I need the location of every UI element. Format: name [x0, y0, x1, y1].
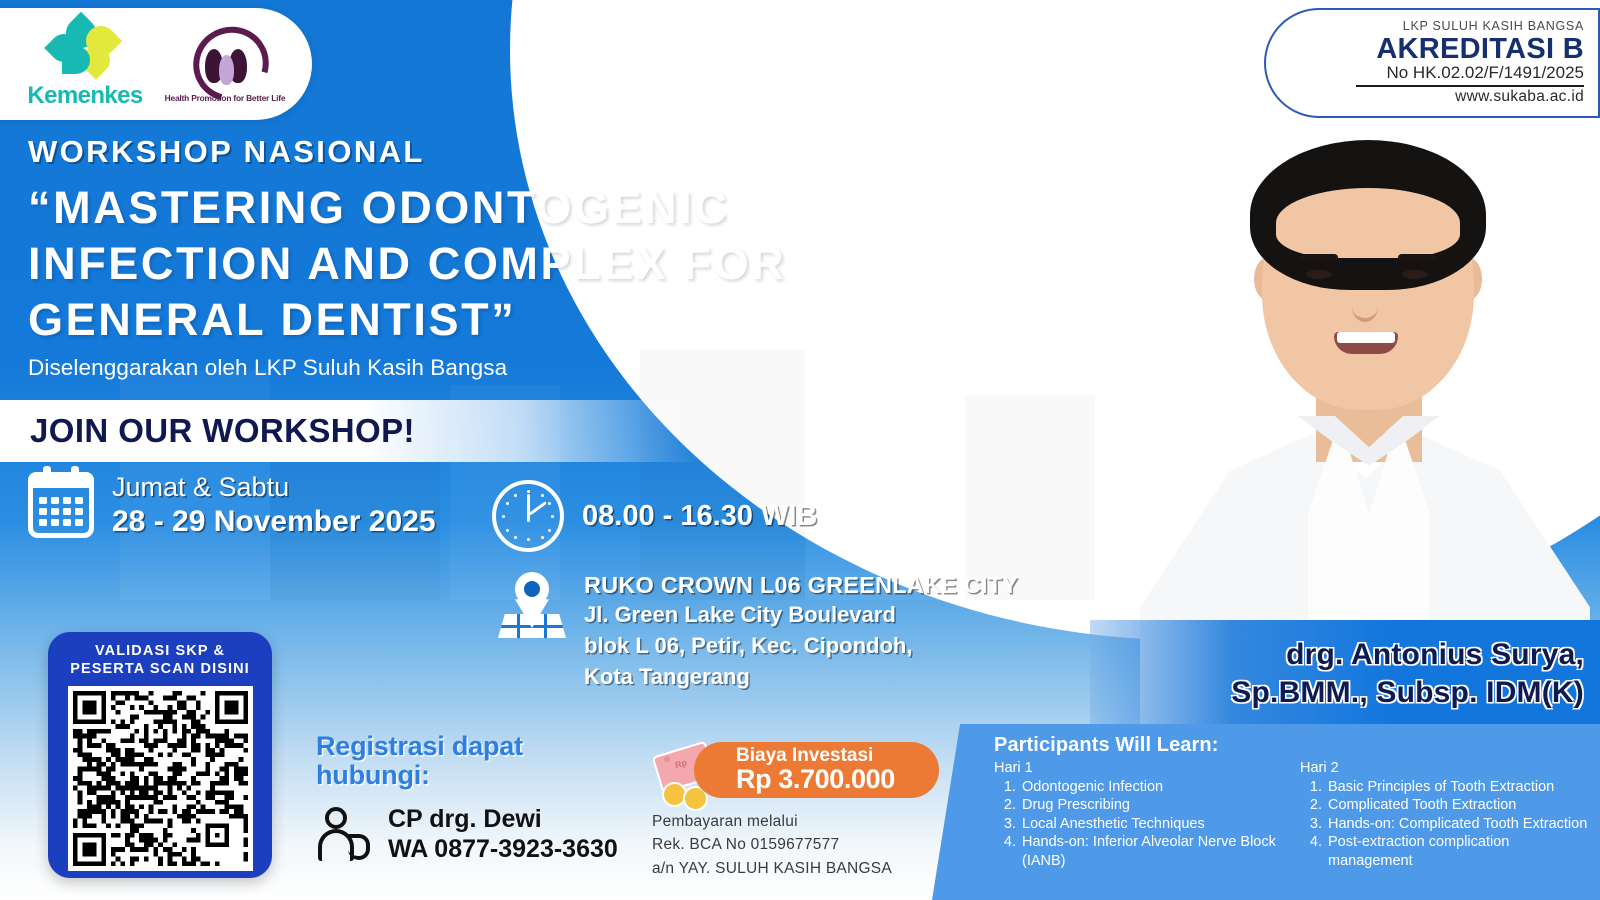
curriculum-day-2-list: Basic Principles of Tooth Extraction Com… [1300, 778, 1596, 871]
kemenkes-logo: Kemenkes [26, 18, 144, 110]
curriculum-columns: Hari 1 Odontogenic Infection Drug Prescr… [994, 759, 1600, 871]
list-item: Basic Principles of Tooth Extraction [1326, 778, 1596, 797]
registration-heading-line-1: Registrasi dapat [316, 732, 646, 761]
sukaba-logo: Health Promotion for Better Life [160, 25, 290, 103]
list-item: Drug Prescribing [1020, 796, 1290, 815]
event-title-line-3: GENERAL DENTIST” [28, 292, 928, 348]
price-amount: Rp 3.700.000 [736, 765, 939, 794]
headline-block: WORKSHOP NASIONAL “MASTERING ODONTOGENIC… [28, 134, 928, 381]
list-item: Hands-on: Complicated Tooth Extraction [1326, 815, 1596, 834]
accreditation-number: No HK.02.02/F/1491/2025 [1386, 64, 1584, 83]
accreditation-website: www.sukaba.ac.id [1455, 88, 1584, 106]
accreditation-divider [1356, 85, 1584, 87]
accreditation-badge: LKP SULUH KASIH BANGSA AKREDITASI B No H… [1264, 8, 1600, 118]
qr-caption-line-2: PESERTA SCAN DISINI [70, 660, 250, 678]
event-date-block: Jumat & Sabtu 28 - 29 November 2025 [28, 472, 436, 539]
list-item: Hands-on: Inferior Alveolar Nerve Block … [1020, 833, 1290, 870]
price-pill: Biaya Investasi Rp 3.700.000 [694, 742, 939, 798]
map-pin-icon [498, 572, 566, 638]
event-subtitle: Diselenggarakan oleh LKP Suluh Kasih Ban… [28, 355, 928, 381]
curriculum-day-1-list: Odontogenic Infection Drug Prescribing L… [994, 778, 1290, 871]
kemenkes-wordmark: Kemenkes [27, 82, 142, 110]
event-title-line-2: INFECTION AND COMPLEX FOR [28, 236, 928, 292]
curriculum-day-2-label: Hari 2 [1300, 759, 1596, 778]
clock-icon [492, 480, 564, 552]
venue-address-line-2: blok L 06, Petir, Kec. Cipondoh, [584, 630, 1018, 661]
event-time: 08.00 - 16.30 WIB [582, 500, 817, 533]
accreditation-institution: LKP SULUH KASIH BANGSA [1403, 20, 1584, 34]
qr-caption-line-1: VALIDASI SKP & [95, 642, 225, 660]
accreditation-grade: AKREDITASI B [1376, 34, 1584, 64]
event-title: “MASTERING ODONTOGENIC INFECTION AND COM… [28, 180, 928, 347]
curriculum-panel: Participants Will Learn: Hari 1 Odontoge… [932, 724, 1600, 900]
venue-address-line-3: Kota Tangerang [584, 661, 1018, 692]
join-banner: JOIN OUR WORKSHOP! [0, 400, 700, 462]
payment-line-3: a/n YAY. SULUH KASIH BANGSA [652, 857, 952, 880]
speaker-name-line-2: Sp.BMM., Subsp. IDM(K) [1231, 674, 1584, 712]
payment-line-2: Rek. BCA No 0159677577 [652, 833, 952, 856]
speaker-name-line-1: drg. Antonius Surya, [1286, 636, 1584, 674]
list-item: Complicated Tooth Extraction [1326, 796, 1596, 815]
curriculum-day-2: Hari 2 Basic Principles of Tooth Extract… [1300, 759, 1596, 871]
list-item: Local Anesthetic Techniques [1020, 815, 1290, 834]
poster-canvas: Kemenkes Health Promotion for Better Lif… [0, 0, 1600, 900]
venue-name: RUKO CROWN L06 GREENLAKE CITY [584, 572, 1018, 599]
event-time-block: 08.00 - 16.30 WIB [492, 480, 817, 552]
event-venue-block: RUKO CROWN L06 GREENLAKE CITY Jl. Green … [498, 572, 1018, 693]
price-label: Biaya Investasi [736, 746, 939, 765]
calendar-icon [28, 472, 94, 538]
contact-person-phone[interactable]: WA 0877-3923-3630 [388, 834, 618, 864]
venue-address-line-1: Jl. Green Lake City Boulevard [584, 599, 1018, 630]
curriculum-day-1-label: Hari 1 [994, 759, 1290, 778]
payment-details: Pembayaran melalui Rek. BCA No 015967757… [652, 810, 952, 880]
organizer-logos: Kemenkes Health Promotion for Better Lif… [0, 8, 312, 120]
registration-heading-line-2: hubungi: [316, 761, 646, 790]
event-dates: 28 - 29 November 2025 [112, 504, 436, 539]
kemenkes-mark-icon [48, 18, 122, 80]
curriculum-day-1: Hari 1 Odontogenic Infection Drug Prescr… [994, 759, 1290, 871]
list-item: Odontogenic Infection [1020, 778, 1290, 797]
contact-person-icon [316, 805, 374, 863]
price-block: Biaya Investasi Rp 3.700.000 Pembayaran … [652, 742, 952, 880]
curriculum-heading: Participants Will Learn: [994, 734, 1600, 757]
speaker-name-banner: drg. Antonius Surya, Sp.BMM., Subsp. IDM… [1090, 620, 1600, 728]
payment-line-1: Pembayaran melalui [652, 810, 952, 833]
join-banner-text: JOIN OUR WORKSHOP! [0, 412, 415, 450]
sukaba-mark-icon [189, 25, 261, 91]
contact-person-name: CP drg. Dewi [388, 804, 618, 834]
event-kicker: WORKSHOP NASIONAL [28, 134, 928, 170]
list-item: Post-extraction complication management [1326, 833, 1596, 870]
event-title-line-1: “MASTERING ODONTOGENIC [28, 180, 928, 236]
qr-code-image[interactable] [68, 686, 253, 871]
registration-block: Registrasi dapat hubungi: CP drg. Dewi W… [316, 732, 646, 864]
qr-card[interactable]: VALIDASI SKP & PESERTA SCAN DISINI [48, 632, 272, 878]
event-day-names: Jumat & Sabtu [112, 472, 436, 504]
